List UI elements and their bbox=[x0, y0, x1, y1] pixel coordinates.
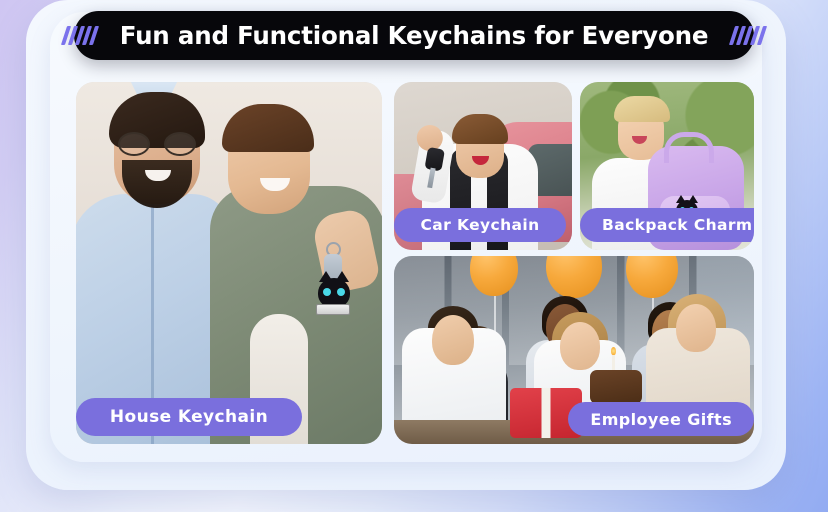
slash-marks-right-icon bbox=[732, 26, 764, 45]
gallery-tile-employee-gifts[interactable]: Employee Gifts bbox=[394, 256, 754, 444]
page-title: Fun and Functional Keychains for Everyon… bbox=[120, 21, 709, 50]
keychain-gallery: House Keychain bbox=[76, 82, 754, 444]
gallery-tile-house-keychain[interactable]: House Keychain bbox=[76, 82, 382, 444]
promo-banner: Fun and Functional Keychains for Everyon… bbox=[0, 0, 828, 512]
header-banner: Fun and Functional Keychains for Everyon… bbox=[74, 11, 754, 60]
tile-label-car-keychain: Car Keychain bbox=[394, 208, 566, 242]
tile-label-backpack-charm: Backpack Charm bbox=[580, 208, 754, 242]
tile-label-employee-gifts: Employee Gifts bbox=[568, 402, 754, 436]
birthday-cake-icon bbox=[590, 370, 642, 404]
tile-label-house-keychain: House Keychain bbox=[76, 398, 302, 436]
car-key-fob-icon bbox=[418, 146, 447, 191]
gallery-tile-car-keychain[interactable]: Car Keychain bbox=[394, 82, 572, 250]
house-keychain-photo bbox=[76, 82, 382, 444]
house-key-with-cat-charm-icon bbox=[316, 242, 350, 314]
slash-marks-left-icon bbox=[64, 26, 96, 45]
eyeglasses-icon bbox=[116, 132, 198, 156]
gallery-tile-backpack-charm[interactable]: Backpack Charm bbox=[580, 82, 754, 250]
